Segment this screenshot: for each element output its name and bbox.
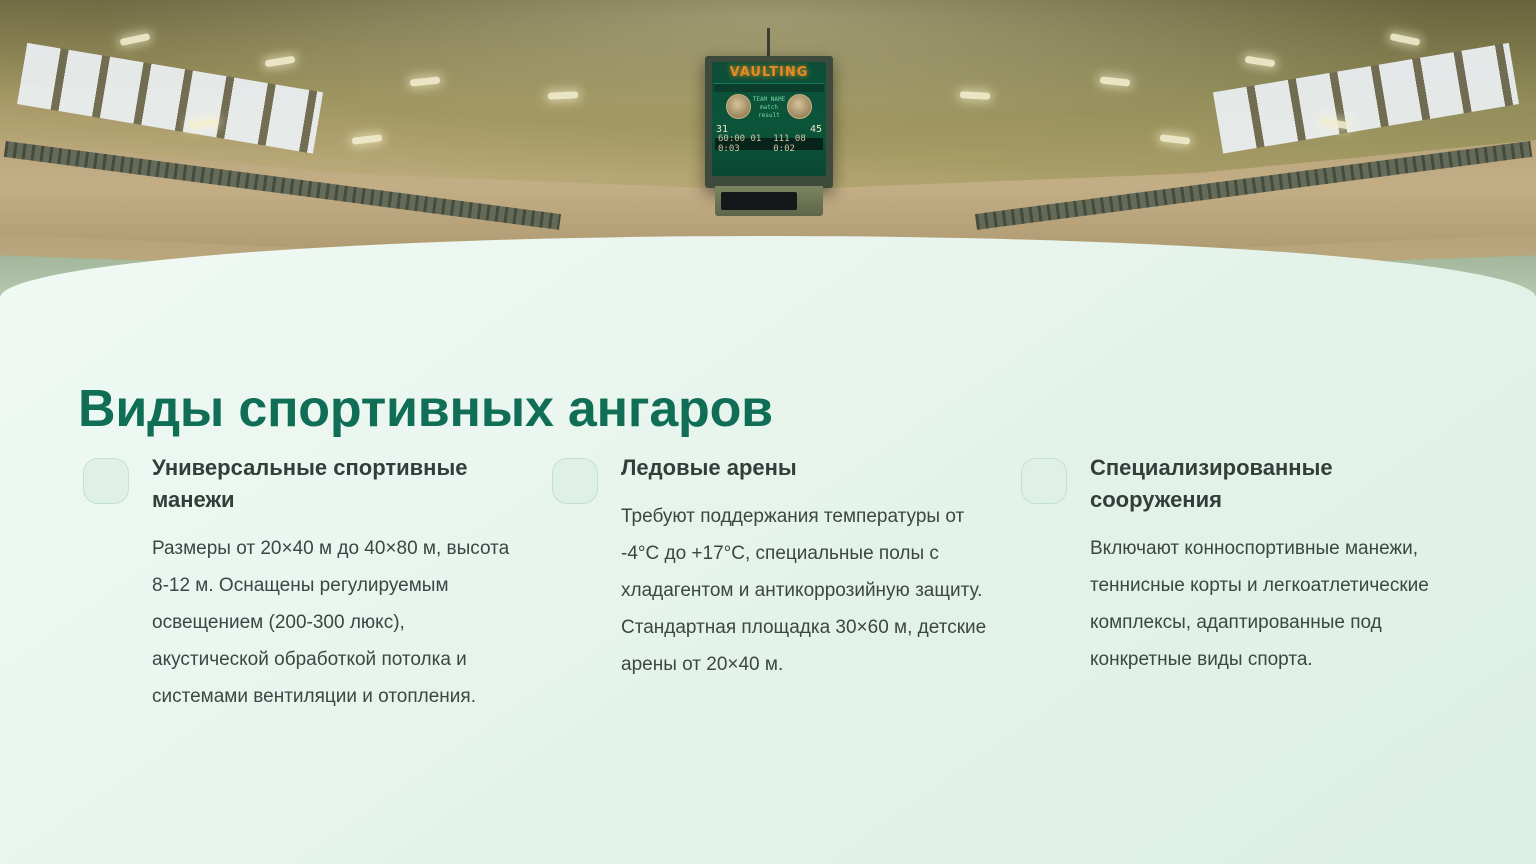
card-text: Требуют поддержания температуры от -4°C … (621, 498, 993, 683)
page-title: Виды спортивных ангаров (78, 379, 773, 439)
rounded-square-bullet-icon (83, 458, 129, 504)
card-text: Включают конноспортивные манежи, теннисн… (1090, 530, 1458, 678)
card-heading: Специализированные сооружения (1090, 452, 1458, 516)
arena-scoreboard: VAULTING TEAM NAME match result 31 45 60… (705, 56, 833, 216)
card-universal-arenas: Универсальные спортивные манежи Размеры … (83, 452, 503, 715)
card-body: Специализированные сооружения Включают к… (1090, 452, 1458, 678)
scoreboard-center-line1: TEAM NAME (752, 96, 786, 104)
scoreboard-screen: VAULTING TEAM NAME match result 31 45 60… (712, 62, 826, 176)
scoreboard-header-strip (714, 83, 824, 92)
rounded-square-bullet-icon (552, 458, 598, 504)
scoreboard-athlete-left (726, 94, 751, 119)
card-heading: Универсальные спортивные манежи (152, 452, 518, 516)
scoreboard-center-text: TEAM NAME match result (752, 96, 786, 120)
card-body: Универсальные спортивные манежи Размеры … (152, 452, 518, 715)
scoreboard-detail-row: 60:00 01 0:03 111 08 0:02 (715, 138, 823, 150)
scoreboard-detail-left: 60:00 01 0:03 (718, 134, 773, 154)
scoreboard-athlete-right (787, 94, 812, 119)
card-specialized-facilities: Специализированные сооружения Включают к… (1021, 452, 1441, 678)
card-body: Ледовые арены Требуют поддержания темпер… (621, 452, 993, 683)
slide-root: VAULTING TEAM NAME match result 31 45 60… (0, 0, 1536, 864)
card-text: Размеры от 20×40 м до 40×80 м, высота 8-… (152, 530, 518, 715)
rounded-square-bullet-icon (1021, 458, 1067, 504)
scoreboard-vent (721, 192, 797, 210)
scoreboard-detail-right: 111 08 0:02 (773, 134, 820, 154)
scoreboard-body: VAULTING TEAM NAME match result 31 45 60… (705, 56, 833, 188)
scoreboard-center-line2: match result (752, 104, 786, 120)
card-heading: Ледовые арены (621, 452, 993, 484)
scoreboard-hanger (767, 28, 770, 58)
card-ice-arenas: Ледовые арены Требуют поддержания темпер… (552, 452, 972, 683)
scoreboard-title: VAULTING (712, 65, 826, 80)
